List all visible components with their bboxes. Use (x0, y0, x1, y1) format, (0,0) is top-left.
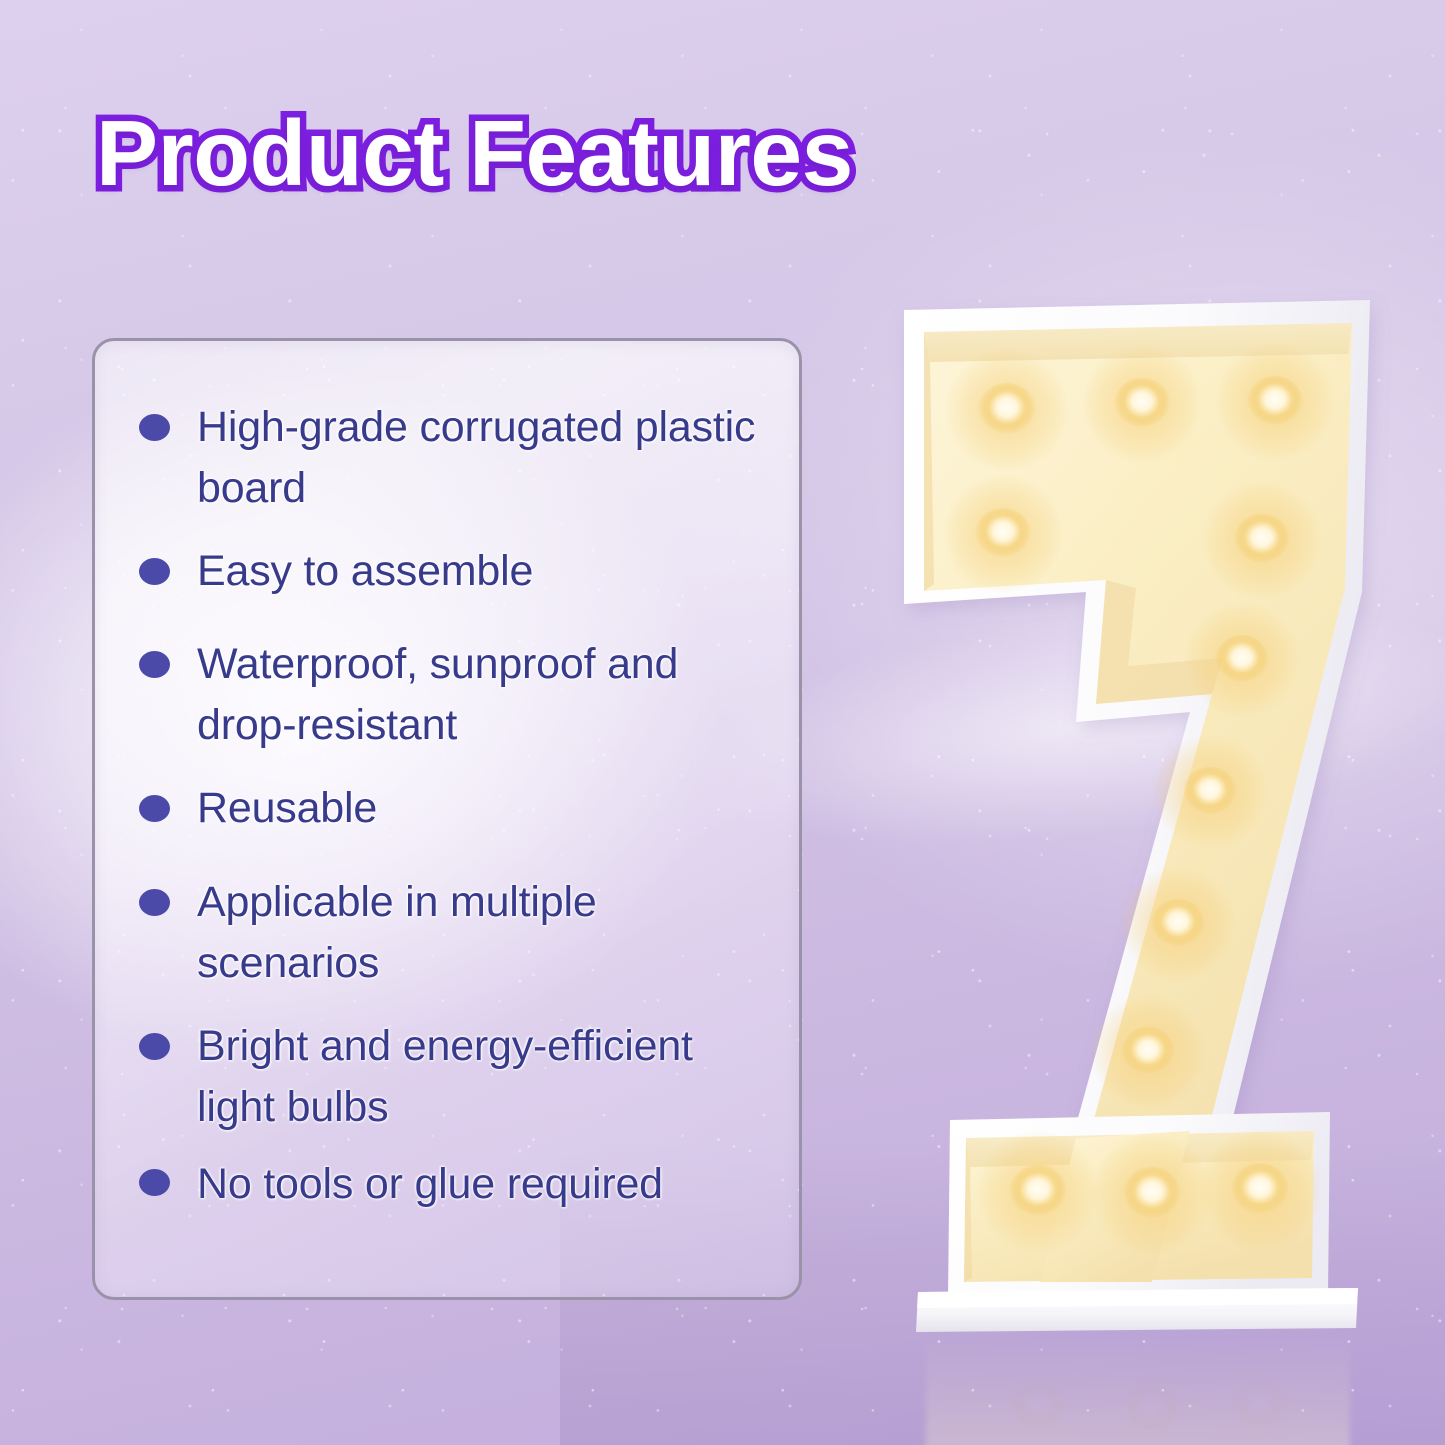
list-item: Waterproof, sunproof and drop-resistant (139, 634, 773, 756)
feature-label: No tools or glue required (197, 1154, 663, 1215)
bullet-dot-icon (139, 414, 170, 441)
list-item: Bright and energy-efficient light bulbs (139, 1016, 773, 1138)
bulb-stem-1 (1184, 602, 1300, 718)
bullet-dot-icon (139, 1033, 170, 1060)
bullet-dot-icon (139, 651, 170, 678)
feature-label: Applicable in multiple scenarios (197, 872, 773, 994)
bulb-top-3 (1215, 342, 1335, 462)
list-item: Reusable (139, 778, 773, 839)
bulb-stem-2 (1152, 734, 1268, 850)
bulb-row2-left (943, 474, 1063, 594)
features-card: High-grade corrugated plastic board Easy… (92, 338, 802, 1300)
bullet-dot-icon (139, 795, 170, 822)
marquee-number-seven-light (890, 292, 1390, 1332)
feature-label: High-grade corrugated plastic board (197, 397, 773, 519)
bulb-base-3 (1198, 1128, 1322, 1252)
bulb-top-2 (1082, 344, 1202, 464)
bullet-dot-icon (139, 558, 170, 585)
feature-label: Easy to assemble (197, 541, 533, 602)
bulb-base-1 (976, 1130, 1100, 1254)
feature-label: Reusable (197, 778, 377, 839)
marquee-figure (890, 292, 1390, 1332)
feature-label: Waterproof, sunproof and drop-resistant (197, 634, 773, 756)
bulb-stem-4 (1090, 994, 1206, 1110)
product-feature-banner: Product Features High-grade corrugated p… (0, 0, 1445, 1445)
list-item: Easy to assemble (139, 541, 773, 602)
bullet-dot-icon (139, 889, 170, 916)
list-item: High-grade corrugated plastic board (139, 397, 773, 519)
bulb-top-1 (945, 348, 1069, 472)
list-item: No tools or glue required (139, 1154, 773, 1215)
bulb-row2-right (1202, 480, 1322, 600)
page-title: Product Features (96, 100, 853, 207)
marquee-plinth (916, 1288, 1358, 1332)
bullet-dot-icon (139, 1169, 170, 1196)
bulb-stem-3 (1120, 866, 1236, 982)
feature-label: Bright and energy-efficient light bulbs (197, 1016, 773, 1138)
feature-list: High-grade corrugated plastic board Easy… (95, 341, 799, 1216)
list-item: Applicable in multiple scenarios (139, 872, 773, 994)
bulb-base-2 (1090, 1132, 1214, 1256)
